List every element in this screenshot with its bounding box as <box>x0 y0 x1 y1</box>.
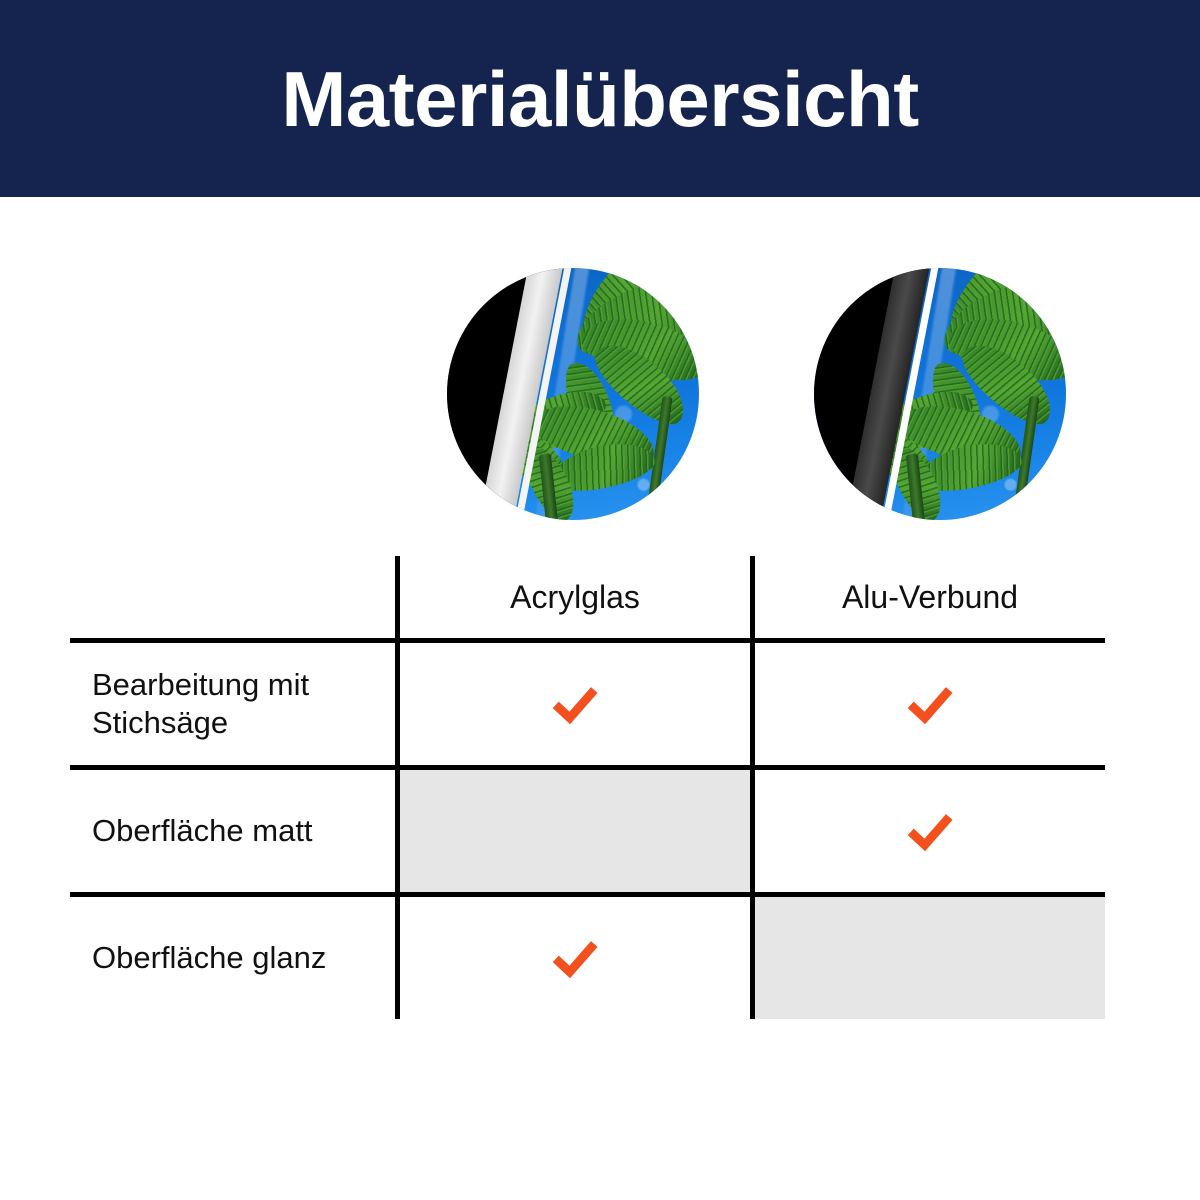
cell-glanz-alu-verbund <box>750 892 1105 1019</box>
check-icon <box>547 676 603 732</box>
table-header-row: Acrylglas Alu-Verbund <box>70 556 1105 638</box>
row-label-line2: Stichsäge <box>92 705 228 740</box>
column-header-acrylglas: Acrylglas <box>395 556 750 638</box>
check-icon <box>547 930 603 986</box>
row-label: Oberfläche matt <box>92 812 313 850</box>
alu-verbund-preview <box>814 268 1066 520</box>
row-label: Oberfläche glanz <box>92 939 326 977</box>
row-label-line1: Bearbeitung mit <box>92 667 309 702</box>
row-label-cell: Oberfläche matt <box>70 765 395 892</box>
check-icon <box>902 803 958 859</box>
table-row: Oberfläche matt <box>70 765 1105 892</box>
check-icon <box>902 676 958 732</box>
column-header-alu-verbund: Alu-Verbund <box>750 556 1105 638</box>
table-row: Oberfläche glanz <box>70 892 1105 1019</box>
row-label: Bearbeitung mit Stichsäge <box>92 666 309 742</box>
row-label-cell: Oberfläche glanz <box>70 892 395 1019</box>
table-row: Bearbeitung mit Stichsäge <box>70 638 1105 765</box>
page-title: Materialübersicht <box>281 60 918 138</box>
row-label-line1: Oberfläche glanz <box>92 940 326 975</box>
preview-row <box>0 268 1200 520</box>
row-label-line1: Oberfläche matt <box>92 813 313 848</box>
cell-matt-alu-verbund <box>750 765 1105 892</box>
cell-stichsaege-alu-verbund <box>750 638 1105 765</box>
cell-matt-acrylglas <box>395 765 750 892</box>
page-header: Materialübersicht <box>0 0 1200 197</box>
row-label-cell: Bearbeitung mit Stichsäge <box>70 638 395 765</box>
column-header-label: Acrylglas <box>510 581 640 613</box>
material-overview-page: Materialübersicht <box>0 0 1200 1200</box>
table-corner-cell <box>70 556 395 638</box>
cell-glanz-acrylglas <box>395 892 750 1019</box>
material-comparison-table: Acrylglas Alu-Verbund Bearbeitung mit St… <box>70 556 1105 1019</box>
cell-stichsaege-acrylglas <box>395 638 750 765</box>
acrylglas-preview <box>447 268 699 520</box>
column-header-label: Alu-Verbund <box>842 581 1018 613</box>
